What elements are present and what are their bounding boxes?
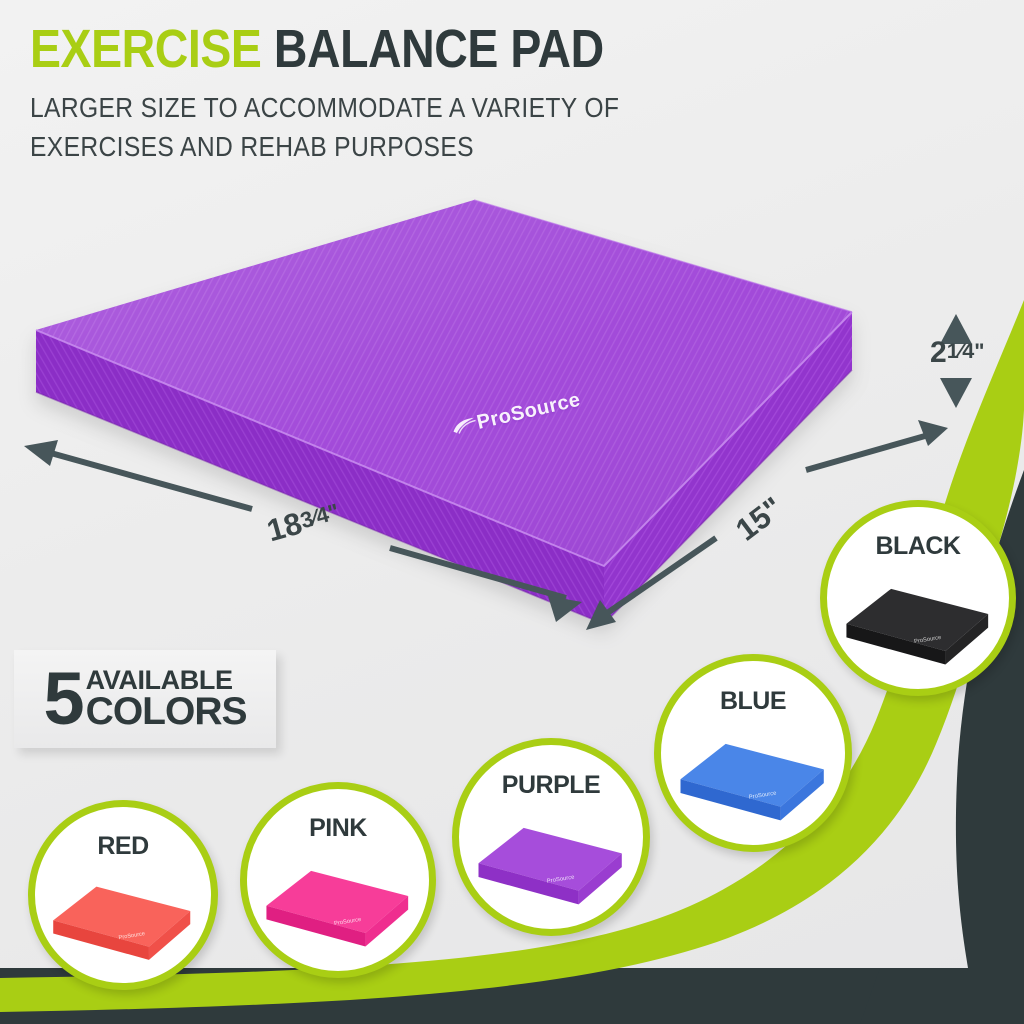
width-arrow-head-left	[24, 440, 58, 466]
dimension-height-number: 2	[930, 336, 947, 369]
right-dark-foot	[860, 968, 1024, 1024]
color-swatch-black[interactable]: BLACK ProSource	[820, 500, 1016, 696]
color-swatch-purple-label: PURPLE	[459, 771, 643, 800]
color-swatch-blue[interactable]: BLUE ProSource	[654, 654, 852, 852]
page-title: EXERCISE BALANCE PAD	[30, 22, 658, 77]
color-swatch-red-label: RED	[35, 832, 211, 861]
color-swatch-pink[interactable]: PINK ProSource	[240, 782, 436, 978]
subtitle-line-2: EXERCISES AND REHAB PURPOSES	[30, 128, 672, 165]
color-swatch-red-pad-image: ProSource	[47, 881, 198, 965]
subtitle-line-1: LARGER SIZE TO ACCOMMODATE A VARIETY OF	[30, 89, 672, 126]
depth-arrow-head-upper	[918, 420, 948, 446]
badge-colors-text: COLORS	[86, 694, 247, 731]
color-swatch-blue-pad-image: ProSource	[674, 738, 832, 826]
color-swatch-red[interactable]: RED ProSource	[28, 800, 218, 990]
color-swatch-purple-pad-image: ProSource	[472, 822, 630, 910]
height-arrow-head-down	[940, 378, 972, 408]
prosource-swoosh-icon	[450, 415, 479, 436]
title-rest-words: BALANCE PAD	[274, 19, 604, 79]
color-swatch-purple[interactable]: PURPLE ProSource	[452, 738, 650, 936]
color-swatch-black-label: BLACK	[827, 532, 1009, 561]
available-colors-badge: 5 AVAILABLE COLORS	[14, 650, 276, 748]
color-swatch-pink-pad-image: ProSource	[260, 865, 417, 952]
badge-count: 5	[44, 669, 82, 730]
dimension-width-fraction: 3⁄4"	[297, 499, 341, 534]
title-accent-word: EXERCISE	[30, 19, 261, 79]
color-swatch-black-pad-image: ProSource	[840, 583, 997, 670]
dimension-height-label: 21⁄4"	[930, 336, 985, 370]
header-block: EXERCISE BALANCE PAD LARGER SIZE TO ACCO…	[30, 22, 760, 166]
depth-arrow-line-upper	[806, 434, 932, 470]
color-swatch-pink-label: PINK	[247, 814, 429, 843]
infographic-poster: EXERCISE BALANCE PAD LARGER SIZE TO ACCO…	[0, 0, 1024, 1024]
color-swatch-blue-label: BLUE	[661, 687, 845, 716]
dimension-height-fraction: 1⁄4"	[947, 338, 985, 363]
